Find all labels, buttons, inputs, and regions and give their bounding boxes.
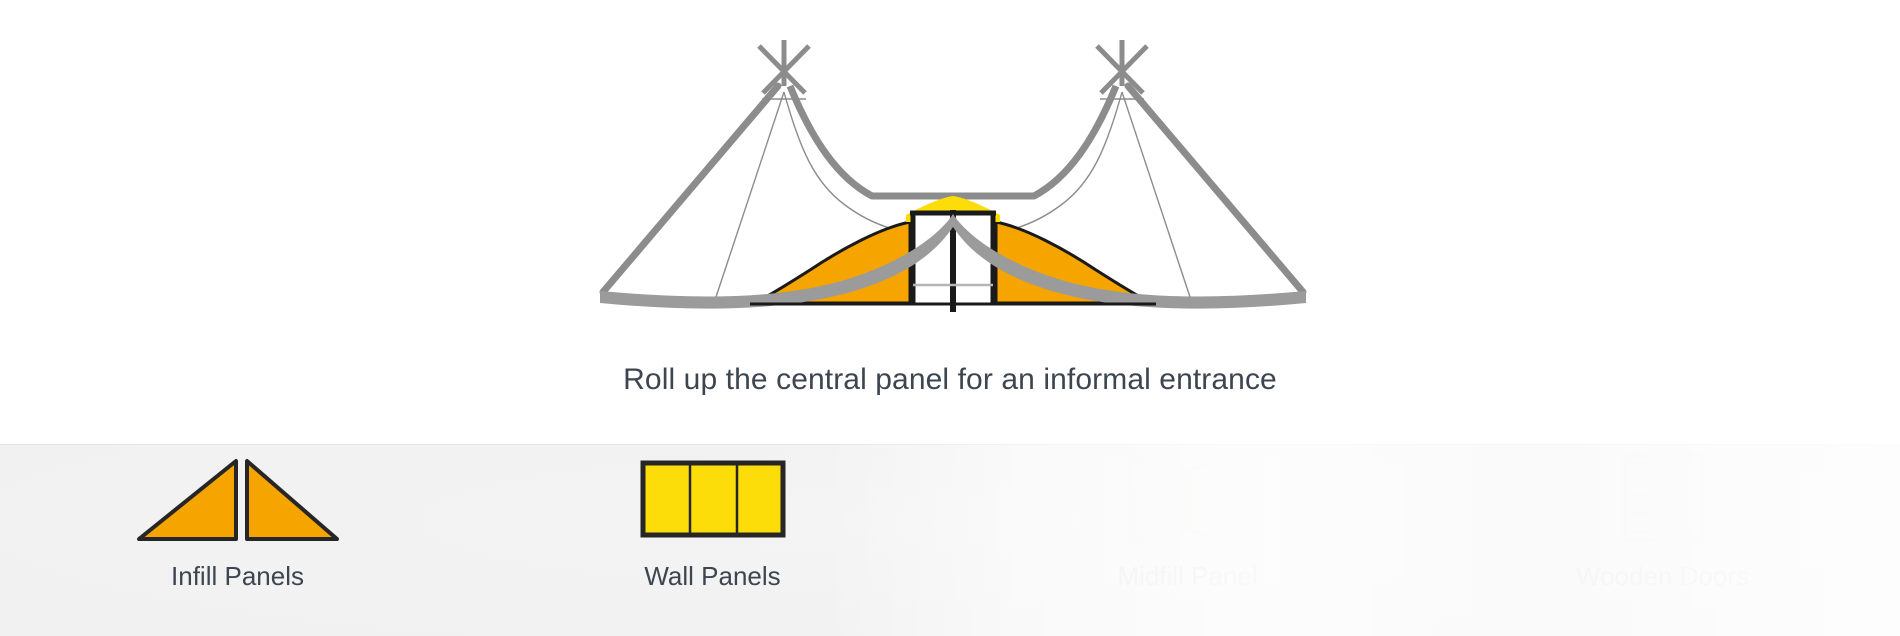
palette-item-wooden-doors[interactable]: Wooden Doors: [1425, 444, 1900, 636]
palette-item-label: Wall Panels: [644, 560, 780, 592]
palette-item-label: Midfill Panel: [1117, 560, 1257, 592]
three-segment-yellow-rectangle-icon: [623, 456, 803, 542]
illustration-caption: Roll up the central panel for an informa…: [0, 360, 1900, 400]
palette-item-label: Infill Panels: [171, 560, 304, 592]
palette-item-infill-panels[interactable]: Infill Panels: [0, 444, 475, 636]
palette-row: Infill Panels Wall Panels: [0, 444, 1900, 636]
palette-item-label: Wooden Doors: [1576, 560, 1749, 592]
palette-item-midfill-panel[interactable]: Midfill Panel: [950, 444, 1425, 636]
right-crossed-poles: [1097, 40, 1147, 93]
component-palette: Infill Panels Wall Panels: [0, 444, 1900, 636]
illustration-stage: Roll up the central panel for an informa…: [0, 0, 1900, 444]
palette-item-wall-panels[interactable]: Wall Panels: [475, 444, 950, 636]
two-orange-right-triangles-icon: [148, 456, 328, 542]
folded-bowtie-panel-icon: [1098, 456, 1278, 542]
canvas-top-ridge: [790, 86, 1116, 196]
tent-configurator-screen: Roll up the central panel for an informa…: [0, 0, 1900, 636]
tipi-tent-illustration: [0, 0, 1900, 400]
left-crossed-poles: [759, 40, 809, 93]
double-wooden-door-icon: [1573, 456, 1753, 542]
